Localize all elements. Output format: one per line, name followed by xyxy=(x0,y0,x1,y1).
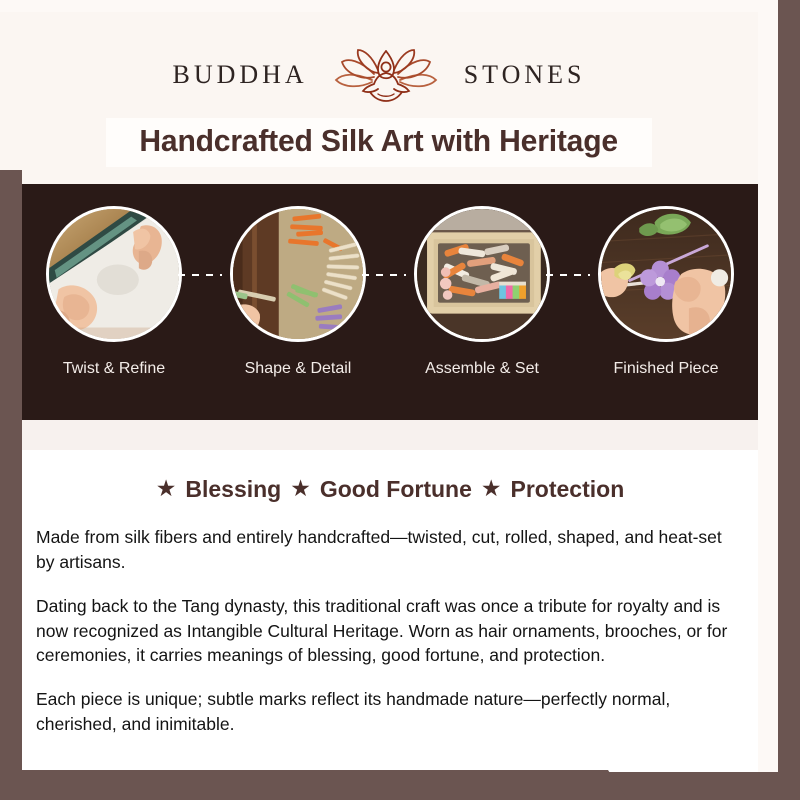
process-step: Twist & Refine xyxy=(28,206,200,378)
page-title-container: Handcrafted Silk Art with Heritage xyxy=(0,118,758,167)
step-photo-assemble-set xyxy=(414,206,550,342)
benefit-good-fortune: Good Fortune xyxy=(320,476,472,503)
brand-logo: BUDDHA xyxy=(0,12,758,104)
frame-left-rail xyxy=(0,170,22,800)
step-photo-twist-refine xyxy=(46,206,182,342)
brand-word-left: BUDDHA xyxy=(172,60,307,90)
process-step: Finished Piece xyxy=(580,206,752,378)
star-icon: ★ xyxy=(481,477,502,500)
process-step: Assemble & Set xyxy=(396,206,568,378)
description-paragraph: Made from silk fibers and entirely handc… xyxy=(36,525,744,575)
star-icon: ★ xyxy=(156,477,177,500)
benefit-protection: Protection xyxy=(511,476,625,503)
process-step: Shape & Detail xyxy=(212,206,384,378)
card-header: BUDDHA xyxy=(0,12,758,184)
description-paragraph: Each piece is unique; subtle marks refle… xyxy=(36,687,744,737)
benefits-tagline: ★ Blessing ★ Good Fortune ★ Protection xyxy=(36,476,744,503)
step-photo-shape-detail xyxy=(230,206,366,342)
description-paragraph: Dating back to the Tang dynasty, this tr… xyxy=(36,594,744,669)
section-separator xyxy=(22,420,758,450)
step-label: Shape & Detail xyxy=(245,360,352,378)
frame-bottom-bar xyxy=(0,770,628,800)
page-title-box: Handcrafted Silk Art with Heritage xyxy=(106,118,651,167)
card-plate: BUDDHA xyxy=(0,0,780,772)
step-label: Twist & Refine xyxy=(63,360,165,378)
frame-top-edge xyxy=(0,0,790,12)
process-steps-band: Twist & Refine xyxy=(0,184,758,420)
page-title: Handcrafted Silk Art with Heritage xyxy=(140,123,619,159)
frame-right-rail xyxy=(778,0,800,800)
process-steps-row: Twist & Refine xyxy=(22,184,758,420)
lotus-meditation-icon xyxy=(326,46,446,104)
product-info-card: BUDDHA xyxy=(0,0,800,800)
step-label: Finished Piece xyxy=(614,360,719,378)
star-icon: ★ xyxy=(290,477,311,500)
brand-word-right: STONES xyxy=(464,60,586,90)
step-photo-finished-piece xyxy=(598,206,734,342)
benefit-blessing: Blessing xyxy=(185,476,281,503)
step-label: Assemble & Set xyxy=(425,360,539,378)
description-section: ★ Blessing ★ Good Fortune ★ Protection M… xyxy=(22,450,758,772)
